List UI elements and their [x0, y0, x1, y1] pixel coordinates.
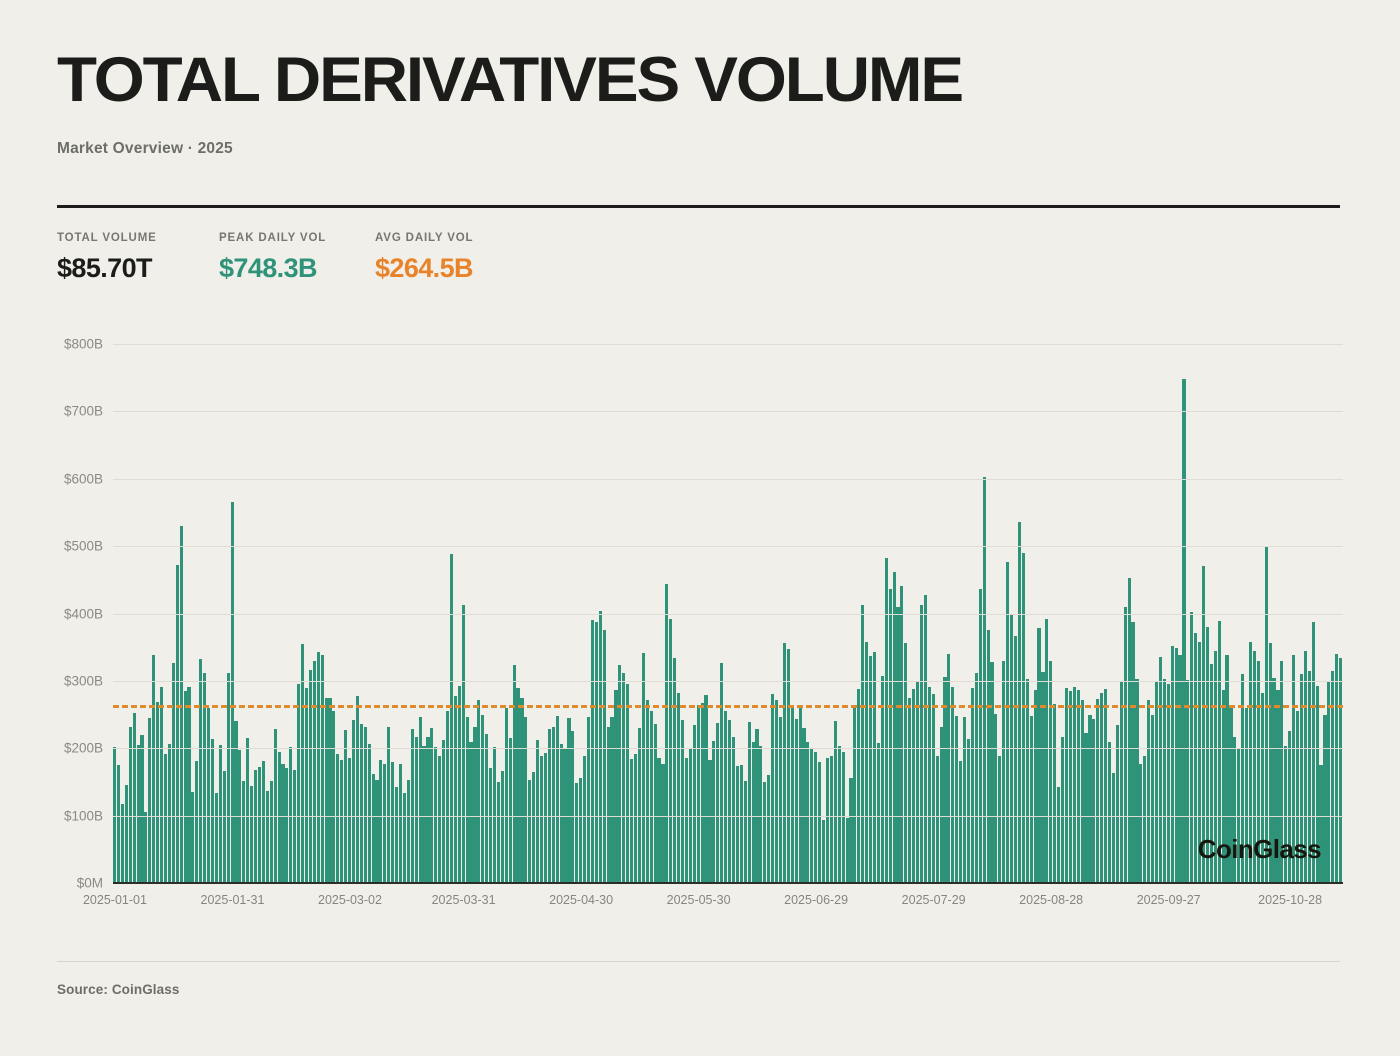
bar [1225, 655, 1228, 883]
plot-area: CoinGlass [113, 344, 1343, 883]
bar [352, 720, 355, 883]
bar [752, 742, 755, 883]
bar [144, 812, 147, 883]
bar [1323, 715, 1326, 883]
bar [458, 686, 461, 883]
bar [1014, 636, 1017, 883]
bar [994, 714, 997, 883]
bar [885, 558, 888, 883]
bar [1163, 679, 1166, 883]
bar [814, 752, 817, 883]
bar [164, 754, 167, 883]
bar [1229, 706, 1232, 883]
bar [1210, 664, 1213, 883]
gridline [113, 681, 1343, 682]
bar [293, 770, 296, 883]
bar [681, 720, 684, 883]
bar [513, 665, 516, 883]
bar [332, 711, 335, 883]
bar [234, 721, 237, 883]
bar [865, 642, 868, 883]
bar [763, 782, 766, 883]
bar [708, 760, 711, 883]
bar [317, 652, 320, 883]
bar [325, 698, 328, 883]
bar [599, 611, 602, 883]
stat-avg-daily-vol-value: $264.5B [375, 253, 575, 284]
bar [1237, 748, 1240, 883]
bar [720, 663, 723, 883]
x-axis-tick-label: 2025-01-31 [200, 893, 264, 907]
bar [434, 747, 437, 883]
bar [1053, 704, 1056, 883]
stat-peak-daily-vol-label: PEAK DAILY VOL [219, 232, 375, 244]
bar [1327, 682, 1330, 883]
bar [1096, 699, 1099, 883]
bar [998, 756, 1001, 883]
bar [1092, 719, 1095, 883]
bar [979, 589, 982, 883]
bar [1006, 562, 1009, 883]
bar [395, 787, 398, 883]
bar [1296, 711, 1299, 883]
bar [1108, 742, 1111, 883]
bar [556, 716, 559, 883]
bar [485, 734, 488, 883]
bar [125, 785, 128, 883]
bar [579, 778, 582, 883]
bar [1104, 689, 1107, 883]
bar [704, 695, 707, 883]
bar [900, 586, 903, 883]
bar [818, 762, 821, 883]
bar [489, 768, 492, 883]
bar [309, 670, 312, 883]
bar [567, 718, 570, 883]
bar [477, 700, 480, 883]
bar [908, 698, 911, 883]
bar [689, 748, 692, 883]
bar [1069, 691, 1072, 883]
gridline [113, 344, 1343, 345]
bar [607, 727, 610, 883]
bar [442, 740, 445, 884]
x-axis-tick-label: 2025-01-01 [83, 893, 147, 907]
bar [716, 723, 719, 883]
gridline [113, 816, 1343, 817]
y-axis-tick-label: $300B [43, 673, 103, 688]
bar [285, 768, 288, 883]
x-axis-tick-label: 2025-04-30 [549, 893, 613, 907]
bar [520, 698, 523, 883]
gridline [113, 411, 1343, 412]
gridline [113, 479, 1343, 480]
bar [524, 717, 527, 883]
bar [940, 727, 943, 883]
bar [732, 737, 735, 883]
bar [591, 620, 594, 883]
bar [391, 762, 394, 883]
bar [266, 791, 269, 883]
bar [1088, 715, 1091, 883]
stat-total-volume-value: $85.70T [57, 253, 219, 284]
stat-total-volume: TOTAL VOLUME $85.70T [57, 232, 219, 284]
y-axis-tick-label: $500B [43, 539, 103, 554]
bar [215, 793, 218, 883]
bar [936, 756, 939, 883]
bar [1265, 547, 1268, 883]
bar [1300, 674, 1303, 883]
bar [301, 644, 304, 883]
bar [415, 737, 418, 883]
bar [274, 729, 277, 883]
bar [712, 741, 715, 883]
bar [289, 747, 292, 883]
bar [638, 728, 641, 883]
bar [1288, 731, 1291, 883]
bar [1084, 733, 1087, 883]
bar [207, 708, 210, 883]
bar [1284, 746, 1287, 883]
bar [1245, 708, 1248, 883]
bar [889, 589, 892, 883]
bar [1339, 658, 1342, 883]
bar [403, 793, 406, 883]
bar [1139, 764, 1142, 883]
y-axis-tick-label: $600B [43, 471, 103, 486]
bar [630, 759, 633, 883]
stat-peak-daily-vol-value: $748.3B [219, 253, 375, 284]
bar [454, 696, 457, 883]
bar [497, 782, 500, 883]
bar [1175, 648, 1178, 883]
bar [947, 654, 950, 883]
bar [203, 673, 206, 883]
bar [1018, 522, 1021, 883]
bar [1312, 622, 1315, 883]
bar [642, 653, 645, 883]
bar [156, 702, 159, 883]
bar [250, 786, 253, 883]
x-axis-tick-label: 2025-03-02 [318, 893, 382, 907]
stat-peak-daily-vol: PEAK DAILY VOL $748.3B [219, 232, 375, 284]
bar [180, 526, 183, 883]
bar [481, 715, 484, 883]
gridline [113, 748, 1343, 749]
bar [857, 689, 860, 883]
bar [1261, 693, 1264, 883]
bar [360, 724, 363, 883]
bar [1112, 773, 1115, 883]
y-axis-tick-label: $700B [43, 404, 103, 419]
bar [853, 708, 856, 883]
x-axis-tick-label: 2025-10-28 [1258, 893, 1322, 907]
bar [348, 758, 351, 883]
bar [634, 754, 637, 883]
bar [532, 772, 535, 883]
bar [661, 764, 664, 883]
bar [1167, 684, 1170, 883]
bar [975, 673, 978, 883]
bar [759, 746, 762, 883]
x-axis-line [113, 882, 1343, 884]
bar [595, 622, 598, 883]
bar [152, 655, 155, 883]
bar [548, 729, 551, 883]
bar [650, 711, 653, 883]
bar [1206, 627, 1209, 883]
x-axis-tick-label: 2025-08-28 [1019, 893, 1083, 907]
page-title: TOTAL DERIVATIVES VOLUME [57, 48, 1394, 112]
bar [368, 744, 371, 883]
bar [1190, 612, 1193, 883]
bar [140, 735, 143, 883]
bar [1331, 671, 1334, 883]
bar [1147, 700, 1150, 883]
bar [419, 717, 422, 883]
bar [1182, 379, 1185, 883]
bar [383, 764, 386, 883]
bar [493, 747, 496, 883]
bar [223, 771, 226, 883]
x-axis: 2025-01-012025-01-312025-03-022025-03-31… [113, 893, 1343, 913]
bar [516, 688, 519, 883]
bar [920, 605, 923, 883]
bar [783, 643, 786, 883]
bar [242, 781, 245, 883]
bar [1010, 614, 1013, 883]
bar [246, 738, 249, 883]
bar [446, 711, 449, 883]
y-axis: $0M$100B$200B$300B$400B$500B$600B$700B$8… [113, 344, 1343, 883]
bar [422, 746, 425, 883]
bar [1049, 661, 1052, 883]
stat-avg-daily-vol: AVG DAILY VOL $264.5B [375, 232, 575, 284]
bar [791, 708, 794, 883]
bar [1202, 566, 1205, 883]
bar [379, 760, 382, 883]
bar [195, 761, 198, 883]
bar [407, 780, 410, 883]
bar [328, 698, 331, 883]
bar [1269, 643, 1272, 883]
bar [1131, 622, 1134, 883]
bar [861, 605, 864, 883]
bar [775, 700, 778, 883]
bar [1143, 756, 1146, 883]
bar [1198, 642, 1201, 883]
bar [375, 780, 378, 883]
bar [587, 717, 590, 883]
footer-divider [57, 961, 1340, 962]
bar [685, 758, 688, 883]
page-subtitle: Market Overview · 2025 [57, 140, 1343, 158]
bar [305, 688, 308, 883]
bar [336, 754, 339, 883]
bar [1280, 661, 1283, 883]
gridline [113, 546, 1343, 547]
bar [912, 689, 915, 883]
bar [469, 742, 472, 883]
bar [1308, 671, 1311, 883]
bar [802, 728, 805, 883]
bar [438, 756, 441, 883]
bar [983, 477, 986, 883]
bar [1037, 628, 1040, 883]
bar [1061, 737, 1064, 883]
bar [176, 565, 179, 883]
bar [779, 717, 782, 883]
bar [505, 708, 508, 883]
bar [1276, 690, 1279, 883]
bar [1253, 651, 1256, 883]
bar [297, 684, 300, 883]
bar [168, 744, 171, 883]
bar [869, 656, 872, 883]
x-axis-tick-label: 2025-09-27 [1137, 893, 1201, 907]
bar [1292, 655, 1295, 883]
bar [626, 684, 629, 883]
bar [677, 693, 680, 883]
bar [571, 731, 574, 883]
bar [1178, 655, 1181, 883]
bar [873, 652, 876, 883]
bar [744, 781, 747, 883]
bar [1233, 737, 1236, 883]
x-axis-tick-label: 2025-07-29 [902, 893, 966, 907]
y-axis-tick-label: $0M [43, 876, 103, 891]
bar [148, 718, 151, 883]
bar [806, 742, 809, 883]
bar [665, 584, 668, 883]
summary-stats: TOTAL VOLUME $85.70T PEAK DAILY VOL $748… [57, 232, 575, 284]
bar [990, 662, 993, 883]
bar [771, 694, 774, 883]
bar [560, 744, 563, 883]
bar [896, 607, 899, 883]
bar [795, 719, 798, 883]
stat-total-volume-label: TOTAL VOLUME [57, 232, 219, 244]
bar [646, 700, 649, 883]
bar [928, 687, 931, 883]
bar [1100, 693, 1103, 883]
bar [262, 761, 265, 883]
bar [399, 764, 402, 883]
header-divider [57, 205, 1340, 208]
bar [657, 758, 660, 883]
bar [846, 818, 849, 883]
bar [826, 758, 829, 883]
bar [838, 746, 841, 883]
bar [1249, 642, 1252, 883]
bar [387, 727, 390, 883]
bar [810, 748, 813, 883]
stat-avg-daily-vol-label: AVG DAILY VOL [375, 232, 575, 244]
bar [967, 739, 970, 883]
bar [1057, 787, 1060, 883]
bar [724, 711, 727, 883]
bar [540, 756, 543, 883]
bar [462, 605, 465, 883]
bar [1222, 690, 1225, 883]
bar [904, 643, 907, 883]
bar [187, 687, 190, 883]
bar [372, 774, 375, 883]
bar [767, 775, 770, 883]
bar [1034, 690, 1037, 883]
bar [184, 691, 187, 883]
gridline [113, 614, 1343, 615]
bar [1073, 687, 1076, 883]
bar [219, 745, 222, 883]
bar [728, 720, 731, 883]
bar [799, 706, 802, 883]
bar [1159, 657, 1162, 883]
bar [199, 659, 202, 883]
bar [1120, 681, 1123, 883]
bar [227, 673, 230, 883]
y-axis-tick-label: $100B [43, 808, 103, 823]
y-axis-tick-label: $800B [43, 337, 103, 352]
bar [575, 783, 578, 883]
bar [748, 722, 751, 883]
bar [1135, 679, 1138, 883]
bar [1124, 607, 1127, 883]
x-axis-tick-label: 2025-03-31 [432, 893, 496, 907]
bar [344, 730, 347, 883]
bar [137, 745, 140, 883]
bar [701, 703, 704, 883]
bar [1151, 715, 1154, 883]
bar [121, 804, 124, 884]
bar [270, 781, 273, 883]
bar [669, 619, 672, 883]
bar [654, 724, 657, 883]
bar [893, 572, 896, 883]
y-axis-tick-label: $200B [43, 741, 103, 756]
bar [254, 770, 257, 883]
bar [1241, 674, 1244, 883]
bar [238, 750, 241, 883]
average-line [113, 705, 1343, 708]
watermark-logo: CoinGlass [1198, 834, 1321, 865]
bar [963, 717, 966, 883]
bar [1002, 661, 1005, 883]
bar [877, 743, 880, 883]
bar [1304, 651, 1307, 883]
bar [881, 676, 884, 883]
bar [321, 655, 324, 883]
bar [755, 729, 758, 883]
bar [563, 748, 566, 883]
bar [693, 725, 696, 883]
bar [849, 778, 852, 883]
bar [1335, 654, 1338, 883]
bar [971, 688, 974, 883]
bar [172, 663, 175, 883]
bar [281, 764, 284, 883]
bar [340, 760, 343, 883]
bar [987, 630, 990, 883]
bar [231, 502, 234, 883]
bar [1214, 651, 1217, 883]
bar [787, 649, 790, 883]
chart: $0M$100B$200B$300B$400B$500B$600B$700B$8… [0, 0, 1400, 1056]
bar [1081, 700, 1084, 883]
bar [313, 661, 316, 883]
bar [583, 756, 586, 883]
bar [955, 716, 958, 883]
